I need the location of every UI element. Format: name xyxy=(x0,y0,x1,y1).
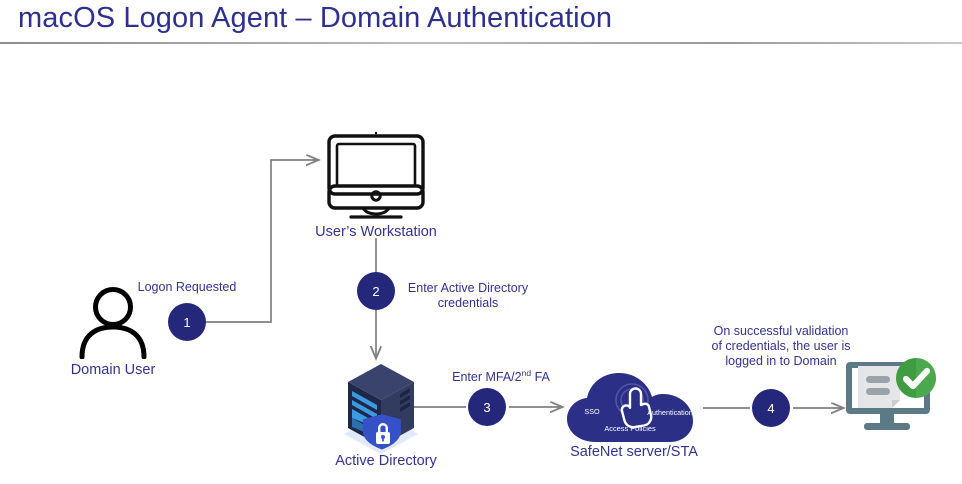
step-3-label-tail: FA xyxy=(531,370,550,384)
step-4-label-line3: logged in to Domain xyxy=(692,354,870,369)
node-label-domain-user: Domain User xyxy=(38,362,188,378)
step-4-label: On successful validation of credentials,… xyxy=(692,324,870,369)
step-3-label-text: Enter MFA/2 xyxy=(452,370,521,384)
step-3-label-superscript: nd xyxy=(522,368,531,378)
node-active-directory[interactable] xyxy=(338,358,424,463)
step-2-label: Enter Active Directory credentials xyxy=(398,281,538,311)
step-2-label-line1: Enter Active Directory xyxy=(398,281,538,296)
step-2-label-line2: credentials xyxy=(398,296,538,311)
cloud-tag-sso: SSO xyxy=(584,407,600,416)
step-badge-2[interactable]: 2 xyxy=(357,272,395,310)
step-badge-1[interactable]: 1 xyxy=(168,303,206,341)
node-workstation[interactable] xyxy=(325,130,427,227)
person-icon xyxy=(74,285,152,359)
node-label-safenet-server: SafeNet server/STA xyxy=(552,444,716,460)
step-1-label: Logon Requested xyxy=(126,280,248,295)
step-badge-3[interactable]: 3 xyxy=(468,388,506,426)
node-label-active-directory: Active Directory xyxy=(306,453,466,469)
server-shield-lock-icon xyxy=(338,358,424,458)
step-badge-4[interactable]: 4 xyxy=(752,389,790,427)
imac-monitor-icon xyxy=(325,130,427,222)
cloud-tag-authentication: Authentication xyxy=(647,408,693,417)
node-label-workstation: User’s Workstation xyxy=(296,224,456,240)
diagram-canvas: macOS Logon Agent – Domain Authenticatio… xyxy=(0,0,962,484)
connector-user-to-workstation xyxy=(205,160,318,322)
step-4-label-line2: of credentials, the user is xyxy=(692,339,870,354)
node-domain-desktop[interactable] xyxy=(840,356,942,443)
cloud-tag-access-policies: Access Policies xyxy=(604,424,656,433)
node-domain-user[interactable] xyxy=(74,285,152,364)
step-3-label: Enter MFA/2nd FA xyxy=(418,366,584,385)
step-4-label-line1: On successful validation xyxy=(692,324,870,339)
